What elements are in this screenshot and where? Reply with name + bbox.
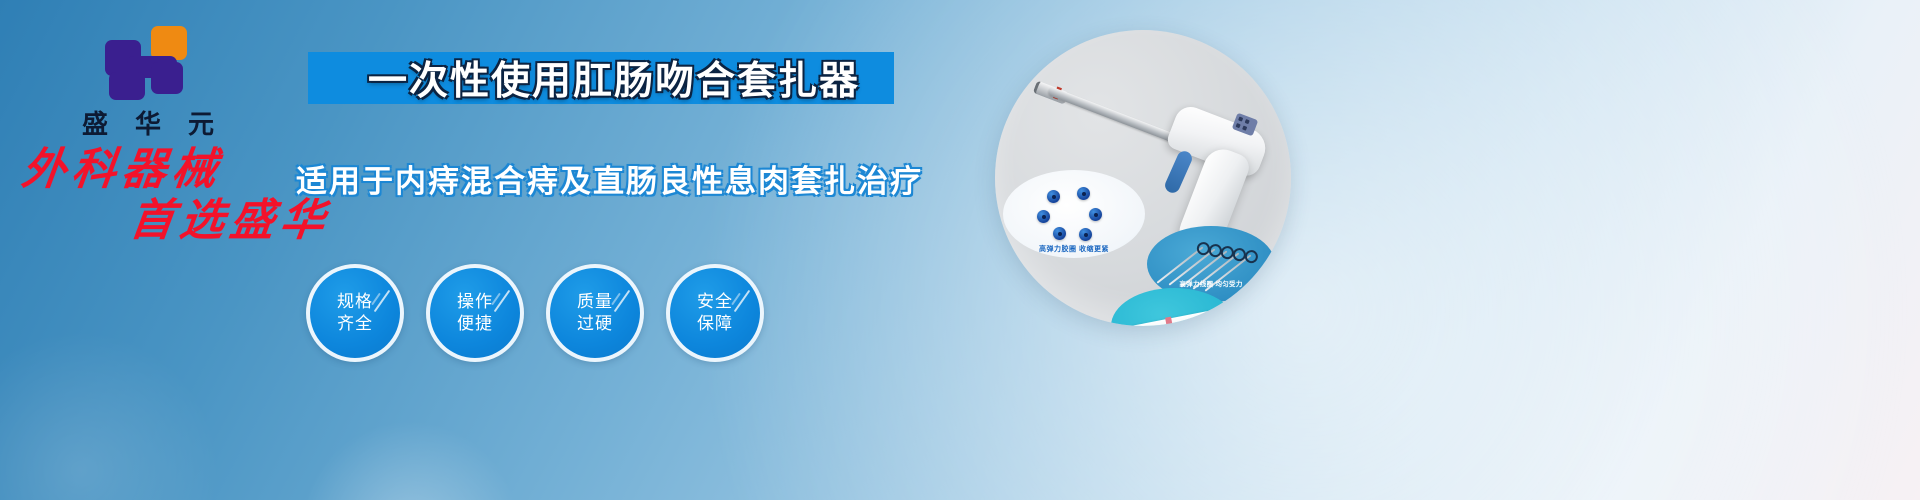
brand-name: 盛 华 元 xyxy=(58,104,238,141)
squares-logo-icon xyxy=(105,26,191,98)
page-subtitle: 适用于内痔混合痔及直肠良性息肉套扎治疗 xyxy=(296,156,896,201)
slogan-line-2: 首选盛华 xyxy=(127,199,355,244)
badge-line-2: 过硬 xyxy=(577,313,613,335)
page-title: 一次性使用肛肠吻合套扎器 xyxy=(334,50,894,106)
badge-line-1: 安全 xyxy=(697,291,733,313)
badge-line-2: 便捷 xyxy=(457,313,493,335)
feature-badge[interactable]: 质量 过硬 xyxy=(546,264,644,362)
inset-elastic-rings: 高弹力胶圈 收缩更紧 xyxy=(1003,170,1145,258)
inset-needles-caption: 高弹力线圈 均匀受力 xyxy=(1147,278,1275,288)
gloss-icon xyxy=(374,290,391,312)
feature-badge[interactable]: 安全 保障 xyxy=(666,264,764,362)
badge-line-2: 保障 xyxy=(697,313,733,335)
anoscope-tube xyxy=(1130,310,1216,326)
feature-badge[interactable]: 规格 齐全 xyxy=(306,264,404,362)
feature-badge-list: 规格 齐全 操作 便捷 质量 过硬 安全 保障 xyxy=(306,264,886,374)
badge-line-1: 操作 xyxy=(457,291,493,313)
feature-badge[interactable]: 操作 便捷 xyxy=(426,264,524,362)
inset-rings-caption: 高弹力胶圈 收缩更紧 xyxy=(1003,244,1145,254)
badge-line-1: 质量 xyxy=(577,291,613,313)
badge-line-1: 规格 xyxy=(337,291,373,313)
decor-circle-1 xyxy=(300,420,520,500)
badge-line-2: 齐全 xyxy=(337,313,373,335)
anoscope-cap xyxy=(1205,315,1223,326)
product-photo[interactable]: 高弹力胶圈 收缩更紧 高弹力线圈 均匀受力 xyxy=(995,30,1291,326)
gloss-icon xyxy=(734,290,751,312)
decor-circle-2 xyxy=(0,330,220,500)
brand-logo[interactable]: 盛 华 元 xyxy=(58,26,238,141)
device-trigger xyxy=(1163,149,1195,195)
gloss-icon xyxy=(494,290,511,312)
gloss-icon xyxy=(614,290,631,312)
